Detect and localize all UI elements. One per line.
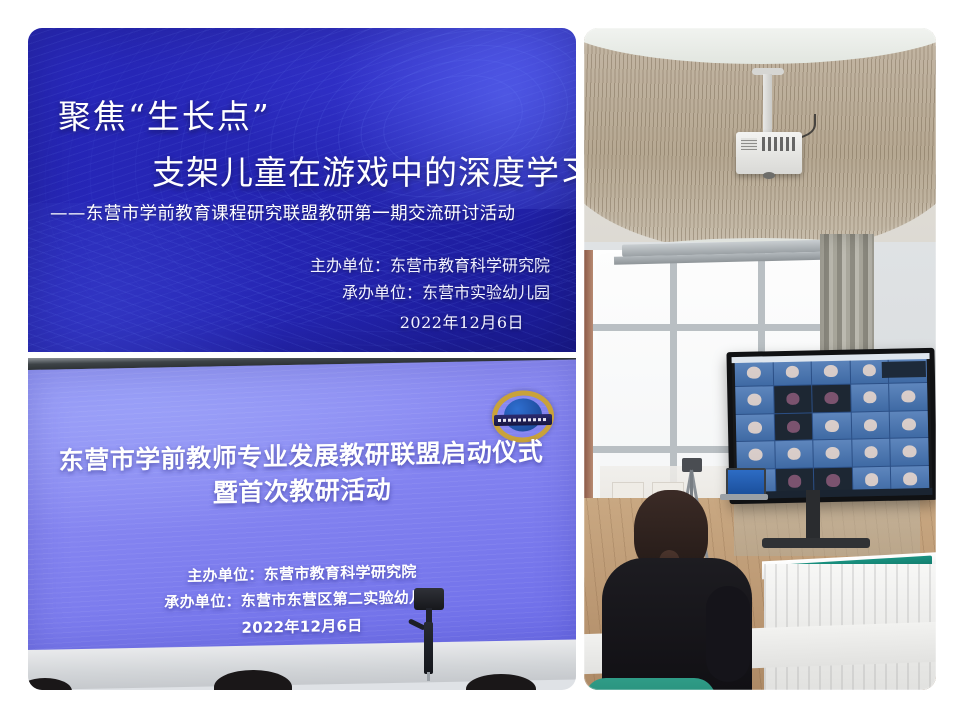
display-foot: [762, 538, 870, 548]
conference-room-photo: [584, 28, 936, 690]
participant-tile: [891, 438, 929, 465]
participant-tile: [852, 412, 890, 439]
participant-tile: [774, 413, 812, 440]
green-chair: [584, 678, 716, 690]
participant-tile: [773, 358, 811, 385]
banner-subtitle: ——东营市学前教育课程研究联盟教研第一期交流研讨活动: [50, 200, 576, 225]
seated-participant: [602, 490, 754, 690]
banner-credits: 主办单位：东营市教育科学研究院 承办单位：东营市实验幼儿园 2022年12月6日: [310, 252, 550, 337]
banner-title-line-1: 聚焦“生长点”: [58, 90, 271, 138]
participant-tile: [852, 439, 890, 466]
ceremony-screen-photo: 东营市学前教师专业发展教研联盟启动仪式 暨首次教研活动 主办单位：东营市教育科学…: [28, 358, 576, 690]
participant-tile: [813, 440, 851, 467]
room-ceiling: [584, 28, 936, 260]
participant-tile: [735, 359, 773, 386]
audience-heads: [28, 654, 576, 690]
participant-tile: [890, 383, 928, 410]
participant-arm: [706, 586, 750, 682]
participant-tile: [813, 412, 851, 439]
participant-tile: [774, 386, 812, 413]
participant-tile: [775, 441, 813, 468]
participant-tile: [735, 387, 773, 414]
participant-tile: [812, 358, 850, 385]
display-stand: [806, 490, 820, 542]
ceiling-projector-icon: [736, 132, 802, 174]
banner-date: 2022年12月6日: [310, 309, 524, 336]
event-title-banner: 聚焦“生长点” 支架儿童在游戏中的深度学习 ——东营市学前教育课程研究联盟教研第…: [28, 28, 576, 352]
banner-title-line-2: 支架儿童在游戏中的深度学习: [152, 146, 576, 194]
active-speaker-tile: [882, 361, 926, 378]
ceremony-credits: 主办单位：东营市教育科学研究院 承办单位：东营市东营区第二实验幼儿园 2022年…: [28, 555, 576, 644]
participant-tile: [890, 411, 928, 438]
collage-stage: 聚焦“生长点” 支架儿童在游戏中的深度学习 ——东营市学前教育课程研究联盟教研第…: [0, 0, 960, 720]
participant-tile: [851, 384, 889, 411]
banner-organizer: 主办单位：东营市教育科学研究院: [310, 252, 550, 279]
participant-tile: [736, 414, 774, 441]
participant-tile: [812, 385, 850, 412]
participant-tile: [736, 441, 774, 468]
banner-co-organizer: 承办单位：东营市实验幼儿园: [310, 279, 550, 306]
